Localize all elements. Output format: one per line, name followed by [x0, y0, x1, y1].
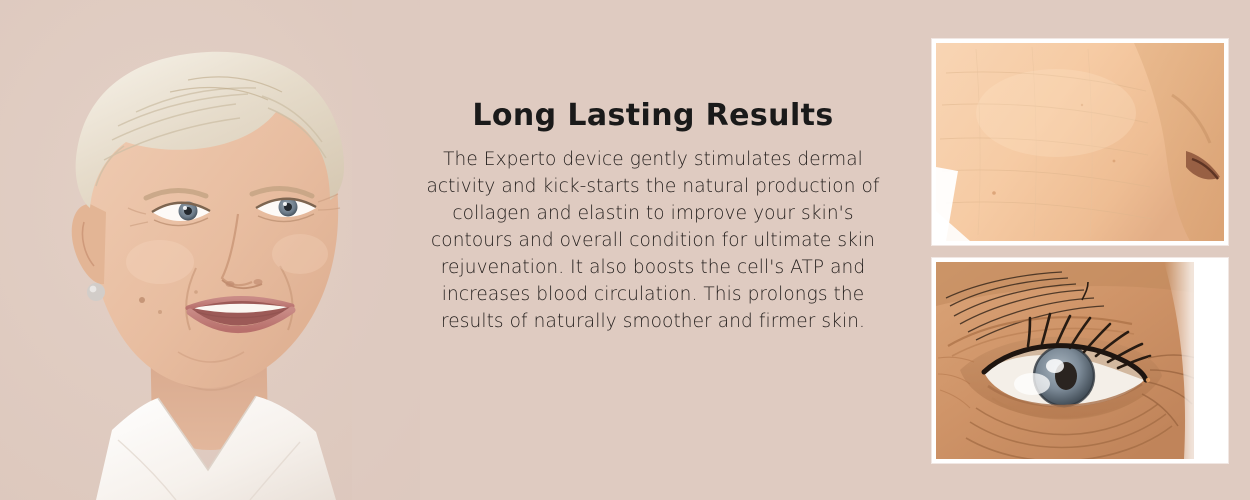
earring [87, 283, 105, 301]
eye-closeup-photo [932, 258, 1228, 463]
eye-closeup-inner [936, 262, 1224, 459]
promo-banner: Long Lasting Results The Experto device … [0, 0, 1250, 500]
body-paragraph: The Experto device gently stimulates der… [413, 146, 893, 335]
portrait-photo [0, 0, 420, 500]
skin-closeup-photo [932, 39, 1228, 245]
page-title: Long Lasting Results [413, 100, 893, 132]
copy-block: Long Lasting Results The Experto device … [413, 100, 893, 335]
portrait-illustration [0, 0, 420, 500]
skin-closeup-inner [936, 43, 1224, 241]
eye-closeup-illustration [936, 262, 1224, 459]
skin-closeup-illustration [936, 43, 1224, 241]
